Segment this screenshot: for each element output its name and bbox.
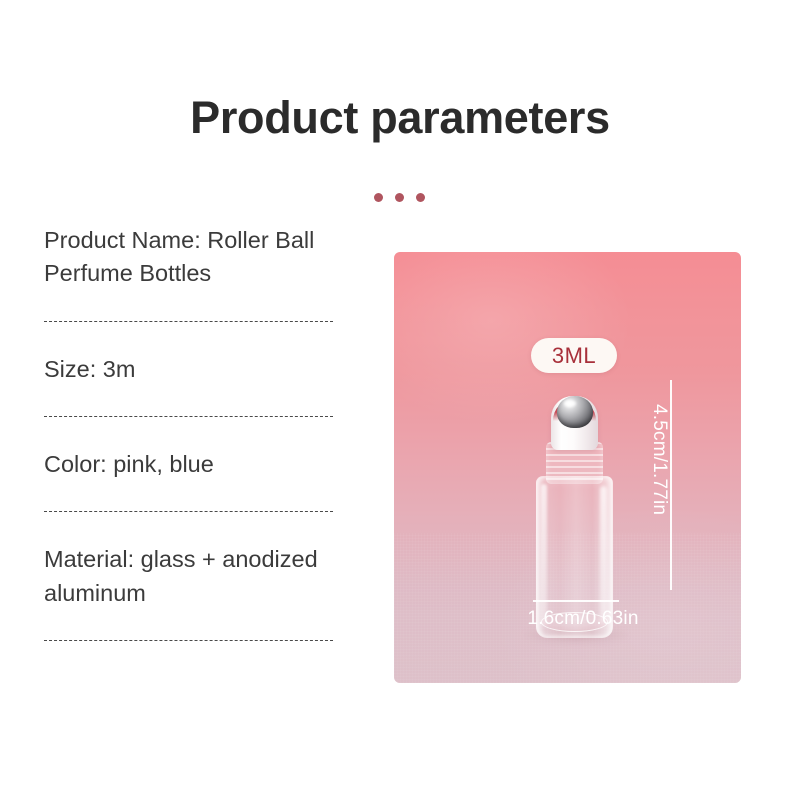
spec-value-product-name: Product Name: Roller Ball Perfume Bottle… — [44, 224, 334, 291]
spec-row-product-name: Product Name: Roller Ball Perfume Bottle… — [44, 224, 334, 291]
spec-row-material: Material: glass + anodized aluminum — [44, 543, 334, 610]
product-image-panel: 3ML 4.5cm/1.77in 1.6cm/0.63in — [394, 252, 741, 683]
spec-row-color: Color: pink, blue — [44, 448, 334, 481]
spacer — [44, 291, 334, 321]
roller-ball-perfume-bottle — [527, 374, 622, 683]
ornament-dot-2 — [395, 193, 404, 202]
spacer — [44, 322, 334, 353]
product-parameters-page: Product parameters Product Name: Roller … — [0, 0, 800, 800]
specification-list: Product Name: Roller Ball Perfume Bottle… — [44, 224, 334, 641]
spec-value-material: Material: glass + anodized aluminum — [44, 543, 334, 610]
spec-divider-3 — [44, 511, 333, 512]
spec-divider-1 — [44, 321, 333, 322]
capacity-badge: 3ML — [531, 338, 617, 373]
height-measure-label: 4.5cm/1.77in — [648, 404, 670, 564]
spacer — [44, 417, 334, 448]
roller-ball-highlight — [564, 400, 576, 407]
capacity-badge-label: 3ML — [552, 345, 596, 367]
spec-divider-2 — [44, 416, 333, 417]
glass-highlight-left — [541, 484, 547, 626]
page-title: Product parameters — [0, 94, 800, 141]
spacer — [44, 386, 334, 416]
width-measure-line — [533, 600, 619, 602]
glass-highlight-right — [600, 486, 607, 624]
height-measure-line — [670, 380, 672, 590]
spec-row-size: Size: 3m — [44, 353, 334, 386]
spacer — [44, 481, 334, 511]
ornament-dot-3 — [416, 193, 425, 202]
spec-value-color: Color: pink, blue — [44, 448, 334, 481]
spacer — [44, 512, 334, 543]
ornament-dots — [374, 193, 425, 202]
spacer — [44, 610, 334, 640]
width-measure-label: 1.6cm/0.63in — [513, 608, 653, 630]
spec-divider-4 — [44, 640, 333, 641]
ornament-dot-1 — [374, 193, 383, 202]
spec-value-size: Size: 3m — [44, 353, 334, 386]
